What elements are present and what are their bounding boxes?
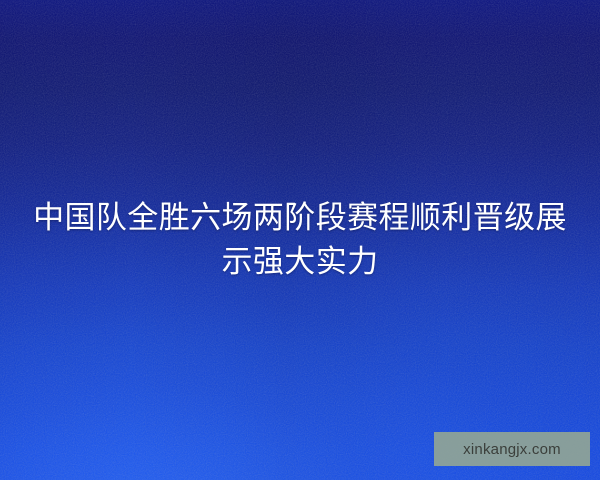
watermark-label: xinkangjx.com: [463, 442, 561, 457]
headline-text: 中国队全胜六场两阶段赛程顺利晋级展示强大实力: [22, 196, 578, 284]
image-canvas: 中国队全胜六场两阶段赛程顺利晋级展示强大实力 xinkangjx.com: [0, 0, 600, 480]
watermark-badge: xinkangjx.com: [434, 432, 590, 466]
